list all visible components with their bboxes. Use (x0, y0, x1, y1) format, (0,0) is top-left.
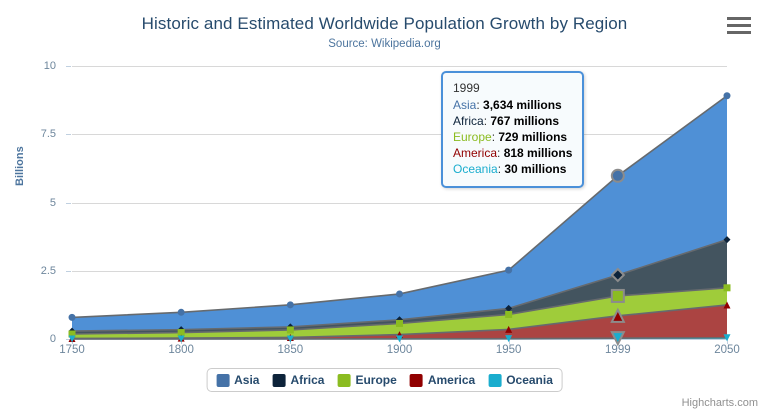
y-tick-label: 10 (16, 60, 56, 72)
legend-swatch (337, 374, 350, 387)
hamburger-bar-3 (727, 31, 751, 34)
legend-swatch (488, 374, 501, 387)
tooltip-series-name: Africa (453, 114, 484, 128)
legend-item-america[interactable]: America (410, 373, 475, 387)
x-tick-label: 2050 (714, 344, 740, 356)
series-layer (72, 66, 727, 339)
x-tick-label: 1850 (278, 344, 304, 356)
tooltip-series-name: Asia (453, 98, 476, 112)
legend-label: Europe (355, 373, 396, 387)
data-point-marker[interactable] (396, 320, 403, 327)
hamburger-bar-1 (727, 17, 751, 20)
data-point-marker[interactable] (69, 314, 76, 321)
x-tick-label: 1900 (387, 344, 413, 356)
x-tick-label: 1750 (59, 344, 85, 356)
highcharts-container: Historic and Estimated Worldwide Populat… (0, 0, 769, 416)
data-point-marker[interactable] (505, 267, 512, 274)
y-tick-mark (66, 203, 71, 204)
tooltip-row: Asia: 3,634 millions (453, 97, 572, 113)
tooltip-rows: Asia: 3,634 millionsAfrica: 767 millions… (453, 97, 572, 177)
legend-label: Asia (234, 373, 259, 387)
legend-label: Oceania (506, 373, 553, 387)
legend-label: America (428, 373, 475, 387)
x-tick-label: 1950 (496, 344, 522, 356)
y-tick-mark (66, 66, 71, 67)
tooltip-series-name: Europe (453, 130, 492, 144)
chart-title: Historic and Estimated Worldwide Populat… (0, 14, 769, 34)
tooltip-series-value: 30 millions (504, 162, 566, 176)
y-tick-label: 7.5 (16, 128, 56, 140)
legend: AsiaAfricaEuropeAmericaOceania (206, 368, 563, 392)
legend-swatch (272, 374, 285, 387)
y-axis-title: Billions (14, 146, 26, 186)
tooltip-separator: : (476, 98, 483, 112)
tooltip-series-value: 818 millions (504, 146, 573, 160)
y-tick-mark (66, 134, 71, 135)
tooltip-row: America: 818 millions (453, 145, 572, 161)
chart-subtitle: Source: Wikipedia.org (0, 38, 769, 50)
data-point-marker[interactable] (287, 326, 294, 333)
tooltip: 1999 Asia: 3,634 millionsAfrica: 767 mil… (441, 71, 584, 188)
tooltip-row: Africa: 767 millions (453, 113, 572, 129)
data-point-marker[interactable] (612, 290, 624, 302)
credits-link[interactable]: Highcharts.com (682, 397, 758, 409)
legend-item-africa[interactable]: Africa (272, 373, 324, 387)
tooltip-row: Europe: 729 millions (453, 129, 572, 145)
legend-item-oceania[interactable]: Oceania (488, 373, 553, 387)
y-tick-mark (66, 271, 71, 272)
data-point-marker[interactable] (724, 92, 731, 99)
data-point-marker[interactable] (505, 311, 512, 318)
y-tick-label: 5 (16, 197, 56, 209)
x-tick-label: 1800 (168, 344, 194, 356)
legend-swatch (216, 374, 229, 387)
legend-swatch (410, 374, 423, 387)
tooltip-series-value: 729 millions (498, 130, 567, 144)
tooltip-row: Oceania: 30 millions (453, 161, 572, 177)
tooltip-separator: : (497, 146, 504, 160)
legend-label: Africa (290, 373, 324, 387)
data-point-marker[interactable] (287, 301, 294, 308)
tooltip-series-name: America (453, 146, 497, 160)
data-point-marker[interactable] (178, 309, 185, 316)
hamburger-icon[interactable] (727, 17, 751, 34)
legend-item-europe[interactable]: Europe (337, 373, 396, 387)
data-point-marker[interactable] (612, 170, 624, 182)
tooltip-header: 1999 (453, 80, 572, 97)
tooltip-series-name: Oceania (453, 162, 498, 176)
y-tick-label: 2.5 (16, 265, 56, 277)
data-point-marker[interactable] (396, 290, 403, 297)
legend-item-asia[interactable]: Asia (216, 373, 259, 387)
y-tick-label: 0 (16, 333, 56, 345)
plot-area (72, 66, 727, 339)
tooltip-series-value: 767 millions (490, 114, 559, 128)
tooltip-series-value: 3,634 millions (483, 98, 562, 112)
hamburger-bar-2 (727, 24, 751, 27)
data-point-marker[interactable] (724, 284, 731, 291)
